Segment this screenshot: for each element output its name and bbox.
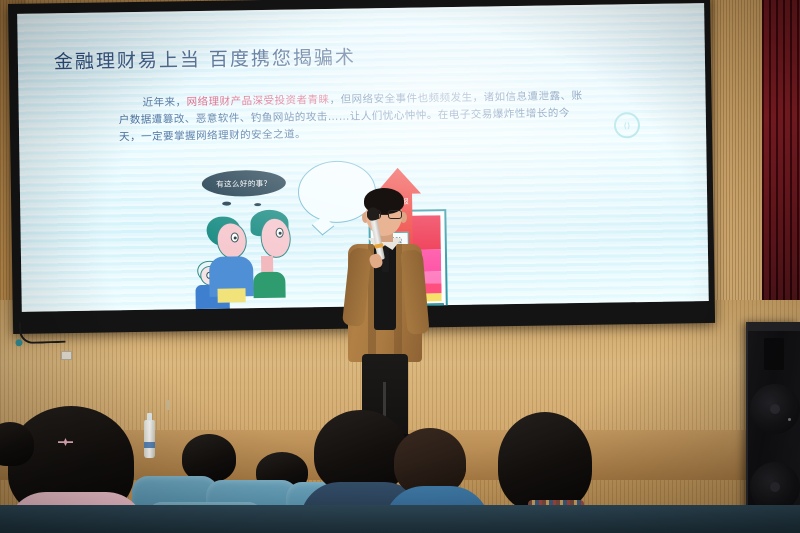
- slide-body-text: 近年来，网络理财产品深受投资者青睐，但网络安全事件也频频发生，诸如信息遭泄露、账…: [118, 88, 591, 146]
- slide-body-highlight: 网络理财产品深受投资者青睐: [186, 94, 329, 108]
- cartoon-speech-bubble-dark: 有这么好的事？: [202, 170, 286, 197]
- water-bottle: [144, 420, 155, 458]
- screen-cable: [19, 321, 66, 345]
- presentation-photo-scene: 金融理财易上当 百度携您揭骗术 近年来，网络理财产品深受投资者青睐，但网络安全事…: [0, 0, 800, 533]
- slide-title: 金融理财易上当 百度携您揭骗术: [54, 43, 356, 75]
- pa-speaker-handle: [764, 338, 784, 370]
- wall-outlet: [61, 351, 72, 360]
- audience-member-8-head: [498, 412, 592, 512]
- audience-member-3-head: [182, 434, 236, 482]
- slide-watermark-icon: (): [614, 112, 640, 138]
- right-wall-panel: [714, 0, 766, 340]
- slide-body-intro: 近年来，: [142, 96, 186, 109]
- foreground-shadow: [0, 505, 800, 533]
- stage-curtain: [762, 0, 800, 330]
